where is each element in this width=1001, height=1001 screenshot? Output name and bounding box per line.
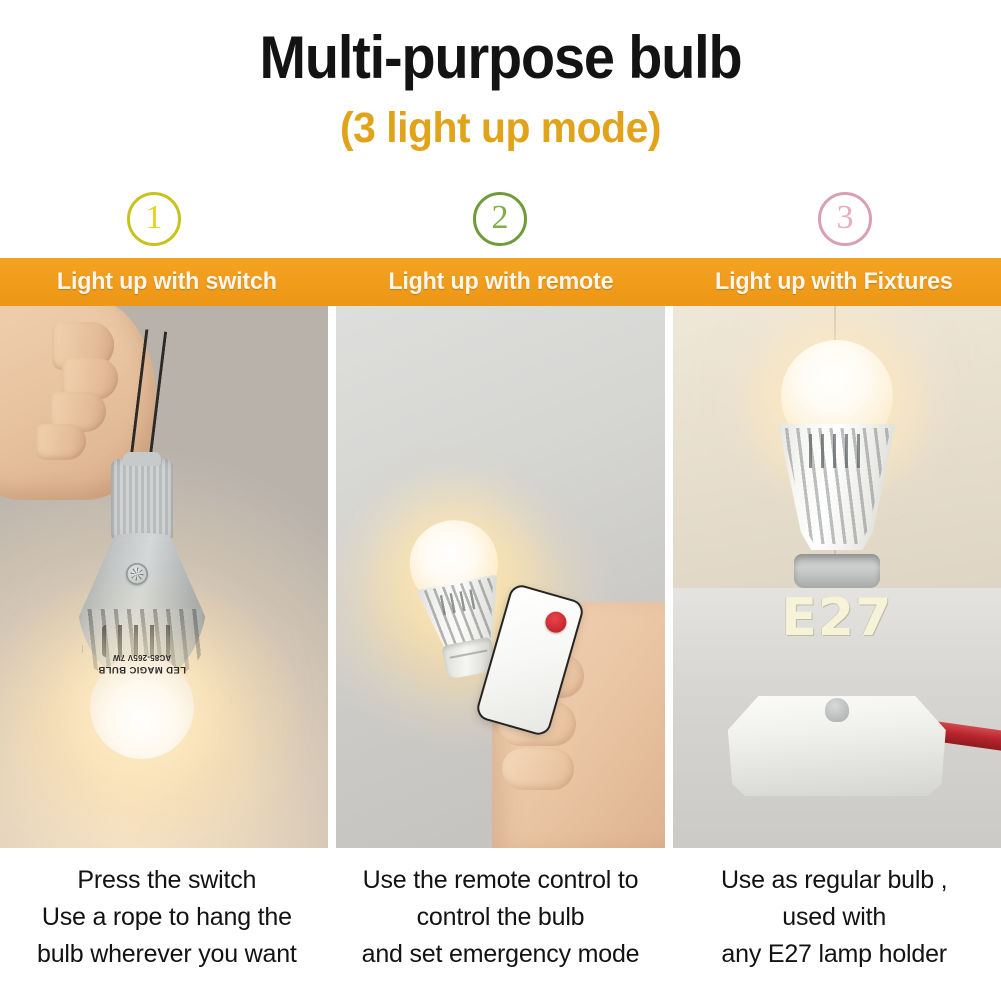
finger — [502, 748, 574, 790]
step-badge-1: 1 — [127, 192, 181, 246]
step-label-1: Light up with switch — [5, 258, 329, 306]
step-label-3: Light up with Fixtures — [672, 258, 996, 306]
caption-line: and set emergency mode — [340, 936, 662, 973]
caption-line: Use a rope to hang the — [6, 899, 328, 936]
led-bulb: LED MAGIC BULB AC85-265V 7W — [76, 459, 208, 759]
caption-remote: Use the remote control to control the bu… — [334, 856, 668, 1001]
bulb-spec-label: LED MAGIC BULB AC85-265V 7W — [82, 635, 202, 675]
photo-strip: LED MAGIC BULB AC85-265V 7W — [0, 306, 1001, 848]
bulb-power-switch[interactable] — [126, 563, 148, 585]
bulb-cap — [111, 459, 173, 539]
caption-switch: Press the switch Use a rope to hang the … — [0, 856, 334, 1001]
step-badge-2-number: 2 — [492, 201, 509, 235]
page-subtitle: (3 light up mode) — [25, 103, 976, 153]
step-label-banner: Light up with switch Light up with remot… — [0, 258, 1001, 306]
photo-panel-fixtures: E27 — [673, 306, 1001, 848]
e27-socket — [794, 554, 880, 588]
caption-line: any E27 lamp holder — [673, 936, 995, 973]
caption-row: Press the switch Use a rope to hang the … — [0, 856, 1001, 1001]
step-label-2: Light up with remote — [339, 258, 663, 306]
e27-overlay-text: E27 — [781, 592, 892, 644]
bulb-label-line2: AC85-265V 7W — [82, 651, 202, 663]
page-title: Multi-purpose bulb — [35, 26, 966, 90]
caption-line: Press the switch — [6, 862, 328, 899]
caption-line: Use the remote control to — [340, 862, 662, 899]
step-badge-3: 3 — [818, 192, 872, 246]
photo-panel-switch: LED MAGIC BULB AC85-265V 7W — [0, 306, 328, 848]
product-infographic: Multi-purpose bulb (3 light up mode) 1 2… — [0, 0, 1001, 1001]
caption-line: used with — [673, 899, 995, 936]
photo-panel-remote — [336, 306, 664, 848]
caption-line: Use as regular bulb , — [673, 862, 995, 899]
lamp-holder-knob[interactable] — [825, 698, 849, 722]
caption-line: control the bulb — [340, 899, 662, 936]
step-badge-3-number: 3 — [837, 201, 854, 235]
led-bulb — [765, 340, 909, 572]
remote-power-button-icon[interactable] — [543, 609, 569, 635]
bulb-label-line1: LED MAGIC BULB — [82, 663, 202, 675]
caption-line: bulb wherever you want — [6, 936, 328, 973]
bulb-vents — [809, 434, 865, 468]
caption-fixtures: Use as regular bulb , used with any E27 … — [667, 856, 1001, 1001]
finger — [36, 424, 86, 460]
step-badge-2: 2 — [473, 192, 527, 246]
step-badge-1-number: 1 — [146, 201, 163, 235]
